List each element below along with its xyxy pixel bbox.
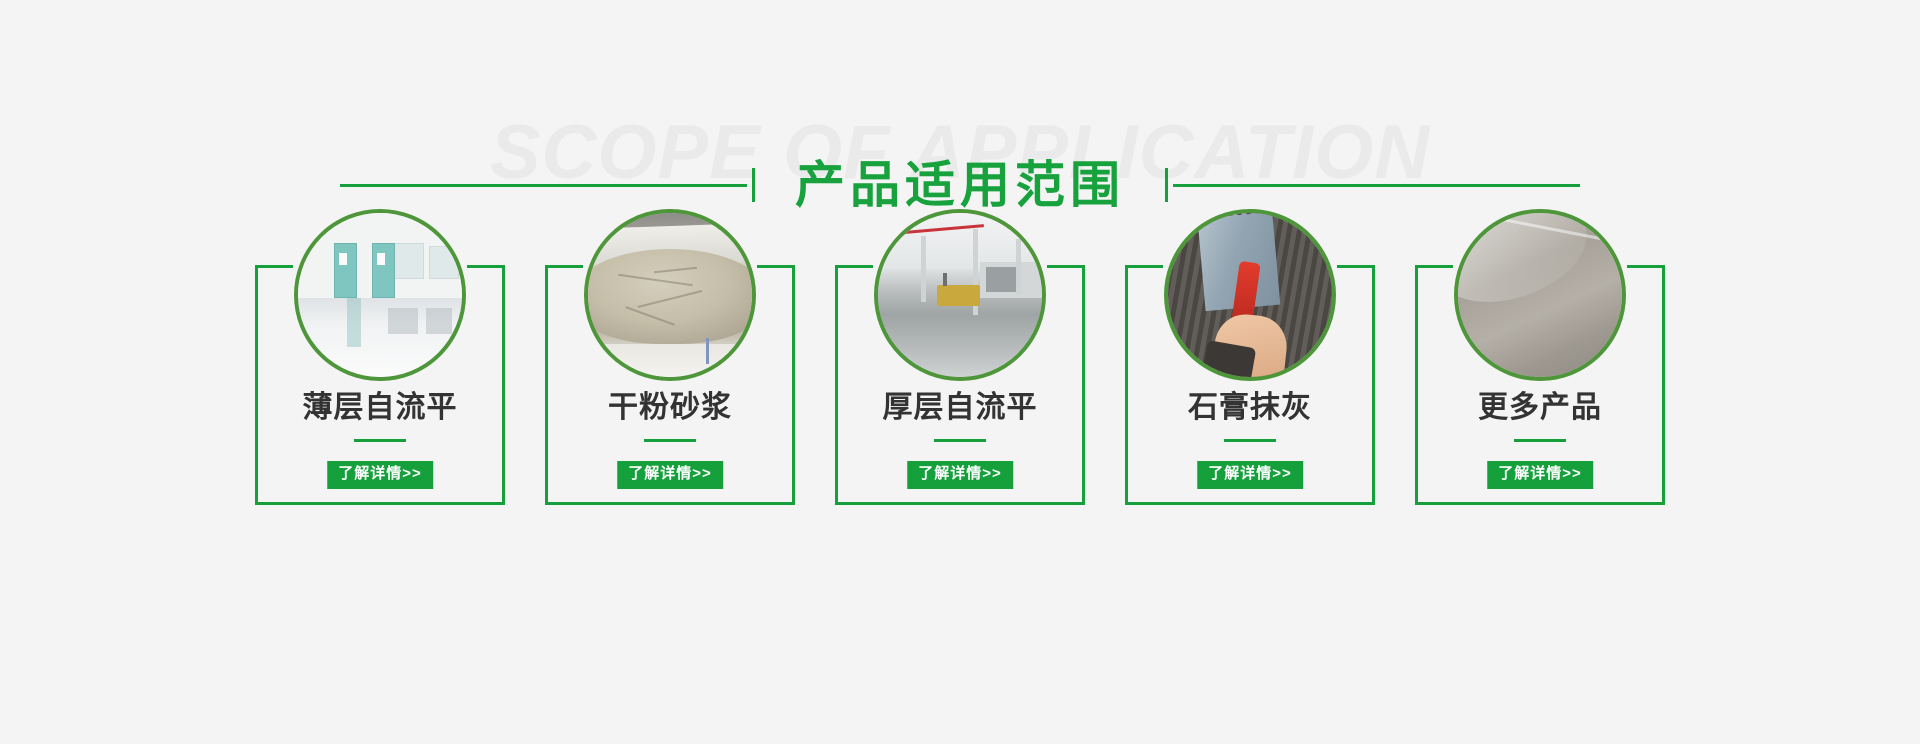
card-title: 石膏抹灰 (1125, 393, 1375, 423)
product-card[interactable]: 厚层自流平 了解详情>> (835, 265, 1085, 505)
product-card[interactable]: 石膏抹灰 了解详情>> (1125, 265, 1375, 505)
rule-right-tick (1165, 168, 1168, 202)
rule-right-bar (1173, 184, 1580, 187)
title-rule-right (1165, 168, 1580, 202)
bracket-cap-right (1047, 265, 1085, 268)
rule-left-tick (752, 168, 755, 202)
photo-scene (1168, 213, 1332, 377)
product-card[interactable]: 薄层自流平 了解详情>> (255, 265, 505, 505)
bracket-line-right (1082, 265, 1085, 505)
bracket-line-right (502, 265, 505, 505)
product-card[interactable]: 干粉砂浆 了解详情>> (545, 265, 795, 505)
photo-scene (1458, 213, 1622, 377)
thick-layer-self-leveling-floor-photo[interactable] (874, 209, 1046, 381)
bracket-cap-left (255, 265, 293, 268)
bracket-line-right (1372, 265, 1375, 505)
dry-powder-mortar-photo[interactable] (584, 209, 756, 381)
bracket-line-bottom (1415, 502, 1665, 505)
photo-scene (878, 213, 1042, 377)
scope-of-application-section: SCOPE OF APPLICATION 产品适用范围 (0, 0, 1920, 744)
thin-layer-self-leveling-floor-photo[interactable] (294, 209, 466, 381)
learn-more-button[interactable]: 了解详情>> (907, 461, 1013, 489)
photo-scene (588, 213, 752, 377)
bracket-cap-left (835, 265, 873, 268)
bracket-cap-right (1627, 265, 1665, 268)
section-header: SCOPE OF APPLICATION 产品适用范围 (0, 60, 1920, 200)
card-title-divider (644, 439, 696, 442)
bracket-line-bottom (545, 502, 795, 505)
gypsum-plaster-trowel-photo[interactable] (1164, 209, 1336, 381)
bracket-cap-left (545, 265, 583, 268)
bracket-cap-left (1125, 265, 1163, 268)
learn-more-button[interactable]: 了解详情>> (1487, 461, 1593, 489)
card-title: 薄层自流平 (255, 393, 505, 423)
bracket-line-left (1125, 265, 1128, 505)
page-title: 产品适用范围 (755, 160, 1165, 210)
bracket-line-left (1415, 265, 1418, 505)
product-card[interactable]: 更多产品 了解详情>> (1415, 265, 1665, 505)
card-title: 干粉砂浆 (545, 393, 795, 423)
rule-left-bar (340, 184, 747, 187)
bracket-line-right (792, 265, 795, 505)
bracket-line-left (255, 265, 258, 505)
title-rule-left (340, 168, 755, 202)
bracket-line-bottom (255, 502, 505, 505)
product-card-list: 薄层自流平 了解详情>> 干粉砂浆 (0, 265, 1920, 505)
bracket-line-left (545, 265, 548, 505)
bracket-cap-right (467, 265, 505, 268)
card-title-divider (1224, 439, 1276, 442)
card-title-divider (1514, 439, 1566, 442)
more-products-photo[interactable] (1454, 209, 1626, 381)
learn-more-button[interactable]: 了解详情>> (1197, 461, 1303, 489)
card-title-divider (934, 439, 986, 442)
learn-more-button[interactable]: 了解详情>> (327, 461, 433, 489)
bracket-line-bottom (1125, 502, 1375, 505)
bracket-line-right (1662, 265, 1665, 505)
bracket-cap-right (1337, 265, 1375, 268)
bracket-line-bottom (835, 502, 1085, 505)
bracket-cap-left (1415, 265, 1453, 268)
title-row: 产品适用范围 (0, 160, 1920, 210)
card-title-divider (354, 439, 406, 442)
bracket-line-left (835, 265, 838, 505)
learn-more-button[interactable]: 了解详情>> (617, 461, 723, 489)
bracket-cap-right (757, 265, 795, 268)
photo-scene (298, 213, 462, 377)
card-title: 更多产品 (1415, 393, 1665, 423)
card-title: 厚层自流平 (835, 393, 1085, 423)
